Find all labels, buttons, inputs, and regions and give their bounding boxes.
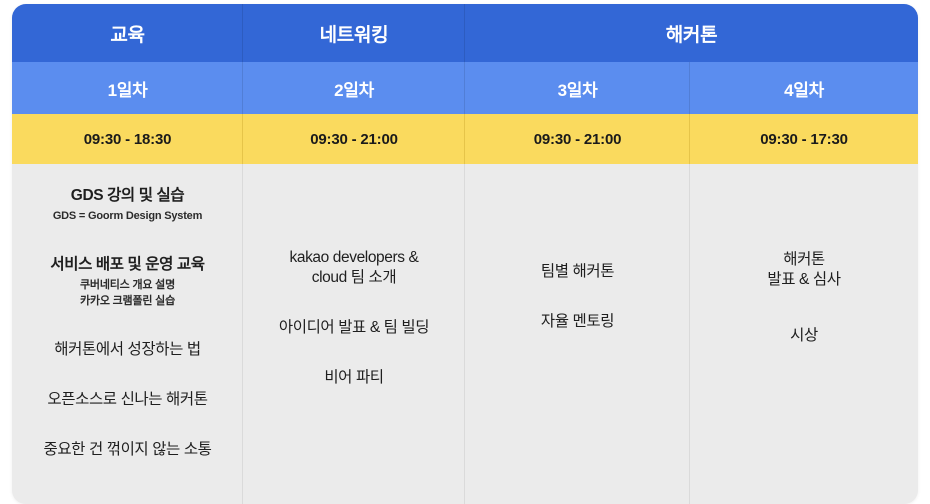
category-cell-hackathon: 해커톤 [465, 4, 918, 62]
day-cell-2: 2일차 [243, 62, 465, 114]
time-label: 09:30 - 21:00 [534, 131, 621, 148]
day-cell-1: 1일차 [12, 62, 243, 114]
schedule-entry: 아이디어 발표 & 팀 빌딩 [253, 318, 455, 338]
schedule-entry-title: 서비스 배포 및 운영 교육 [22, 255, 233, 275]
time-header-row: 09:30 - 18:30 09:30 - 21:00 09:30 - 21:0… [12, 114, 918, 164]
time-cell-2: 09:30 - 21:00 [243, 114, 465, 164]
time-label: 09:30 - 21:00 [310, 131, 397, 148]
schedule-entry-title: 해커톤발표 & 심사 [700, 250, 908, 290]
schedule-entry-title: 아이디어 발표 & 팀 빌딩 [253, 318, 455, 338]
day-label: 1일차 [108, 76, 148, 101]
category-cell-networking: 네트워킹 [243, 4, 465, 62]
schedule-column-4: 해커톤발표 & 심사시상 [690, 164, 918, 504]
schedule-column-2: kakao developers &cloud 팀 소개아이디어 발표 & 팀 … [243, 164, 465, 504]
schedule-entry: 시상 [700, 326, 908, 346]
schedule-entry-title: 자율 멘토링 [475, 312, 680, 332]
category-cell-education: 교육 [12, 4, 243, 62]
category-label: 해커톤 [666, 20, 718, 47]
day-cell-3: 3일차 [465, 62, 690, 114]
schedule-entry: 서비스 배포 및 운영 교육쿠버네티스 개요 설명카카오 크램폴린 실습 [22, 255, 233, 310]
day-header-row: 1일차 2일차 3일차 4일차 [12, 62, 918, 114]
time-cell-4: 09:30 - 17:30 [690, 114, 918, 164]
schedule-entry-subtitle: 쿠버네티스 개요 설명카카오 크램폴린 실습 [22, 278, 233, 310]
schedule-table: 교육 네트워킹 해커톤 1일차 2일차 3일차 4일차 09:30 - 18:3… [12, 4, 918, 504]
category-header-row: 교육 네트워킹 해커톤 [12, 4, 918, 62]
schedule-entry-title: kakao developers &cloud 팀 소개 [253, 248, 455, 288]
schedule-entry: GDS 강의 및 실습GDS = Goorm Design System [22, 186, 233, 225]
schedule-entry-title: 시상 [700, 326, 908, 346]
time-label: 09:30 - 17:30 [760, 131, 847, 148]
schedule-column-3: 팀별 해커톤자율 멘토링 [465, 164, 690, 504]
schedule-body-row: GDS 강의 및 실습GDS = Goorm Design System서비스 … [12, 164, 918, 504]
schedule-entry-title: 중요한 건 꺾이지 않는 소통 [22, 440, 233, 460]
schedule-column-1: GDS 강의 및 실습GDS = Goorm Design System서비스 … [12, 164, 243, 504]
schedule-entry-subtitle: GDS = Goorm Design System [22, 209, 233, 225]
schedule-entry: 오픈소스로 신나는 해커톤 [22, 390, 233, 410]
day-label: 4일차 [784, 76, 824, 101]
day-cell-4: 4일차 [690, 62, 918, 114]
schedule-entry: 해커톤에서 성장하는 법 [22, 340, 233, 360]
time-cell-1: 09:30 - 18:30 [12, 114, 243, 164]
time-cell-3: 09:30 - 21:00 [465, 114, 690, 164]
schedule-entry: 비어 파티 [253, 368, 455, 388]
category-label: 네트워킹 [320, 20, 389, 47]
day-label: 3일차 [558, 76, 598, 101]
time-label: 09:30 - 18:30 [84, 131, 171, 148]
schedule-entry-title: 오픈소스로 신나는 해커톤 [22, 390, 233, 410]
category-label: 교육 [110, 20, 144, 47]
schedule-entry: 자율 멘토링 [475, 312, 680, 332]
schedule-entry: 해커톤발표 & 심사 [700, 250, 908, 290]
day-label: 2일차 [334, 76, 374, 101]
schedule-entry: 팀별 해커톤 [475, 262, 680, 282]
schedule-entry-title: 비어 파티 [253, 368, 455, 388]
schedule-entry-title: 해커톤에서 성장하는 법 [22, 340, 233, 360]
schedule-entry: kakao developers &cloud 팀 소개 [253, 248, 455, 288]
schedule-entry-title: GDS 강의 및 실습 [22, 186, 233, 206]
schedule-entry: 중요한 건 꺾이지 않는 소통 [22, 440, 233, 460]
schedule-entry-title: 팀별 해커톤 [475, 262, 680, 282]
